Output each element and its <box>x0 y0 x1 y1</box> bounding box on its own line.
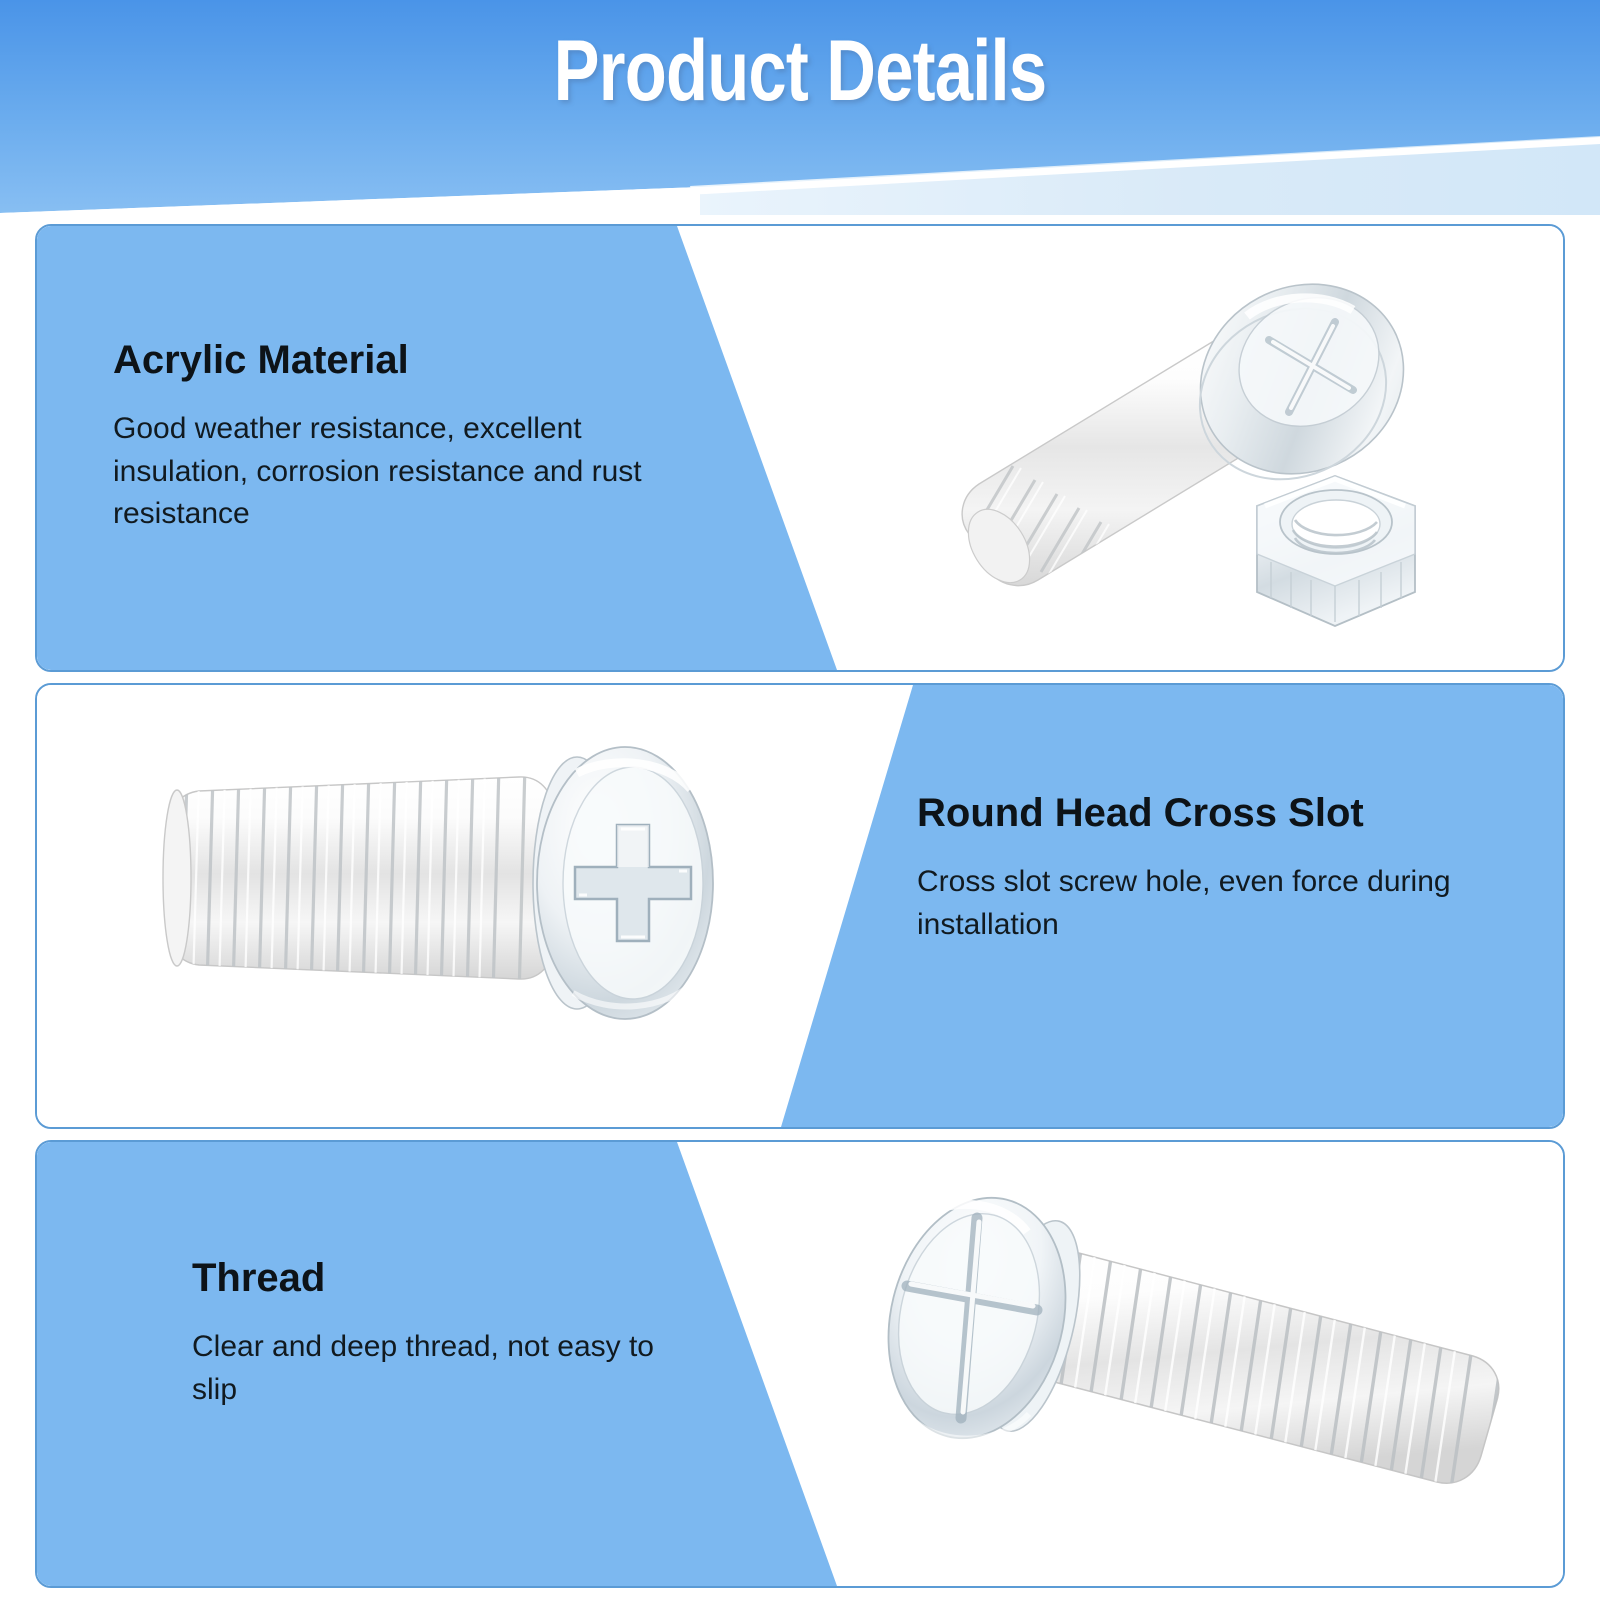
card-text-round-head-cross-slot: Round Head Cross Slot Cross slot screw h… <box>917 791 1477 946</box>
card-image-round-head-cross-slot <box>147 707 767 1077</box>
card-text-acrylic-material: Acrylic Material Good weather resistance… <box>113 338 713 536</box>
card-description: Clear and deep thread, not easy to slip <box>192 1326 672 1411</box>
card-description: Good weather resistance, excellent insul… <box>113 408 713 536</box>
card-title: Acrylic Material <box>113 338 713 382</box>
page-header: Product Details <box>0 0 1600 222</box>
page-title: Product Details <box>160 28 1440 114</box>
feature-card-acrylic-material: Acrylic Material Good weather resistance… <box>35 224 1565 672</box>
card-image-acrylic-material <box>917 244 1447 664</box>
feature-card-round-head-cross-slot: Round Head Cross Slot Cross slot screw h… <box>35 683 1565 1129</box>
feature-card-thread: Thread Clear and deep thread, not easy t… <box>35 1140 1565 1588</box>
card-title: Thread <box>192 1256 672 1300</box>
card-image-thread <box>837 1160 1517 1570</box>
card-title: Round Head Cross Slot <box>917 791 1477 835</box>
card-text-thread: Thread Clear and deep thread, not easy t… <box>192 1256 672 1411</box>
card-description: Cross slot screw hole, even force during… <box>917 861 1477 946</box>
